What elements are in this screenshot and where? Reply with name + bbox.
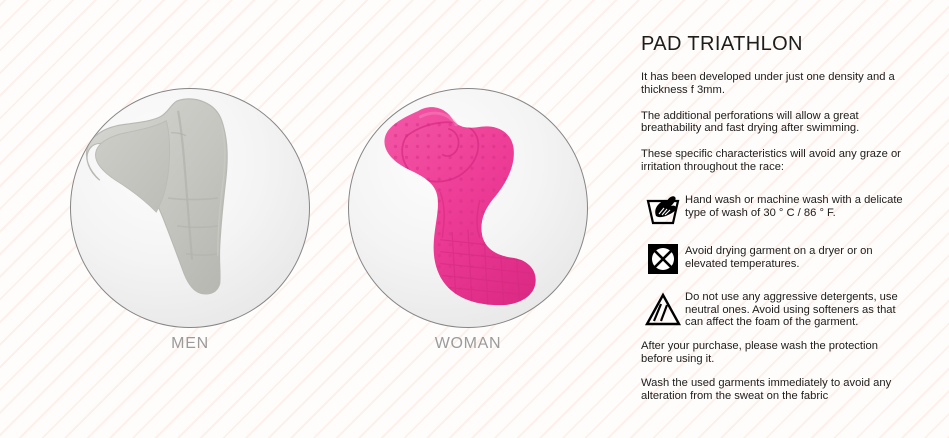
woman-pad-illustration: [349, 89, 587, 327]
care-instruction-list: Hand wash or machine wash with a delicat…: [641, 187, 941, 331]
info-paragraph-3: These specific characteristics will avoi…: [641, 148, 903, 174]
closing-paragraph-2: Wash the used garments immediately to av…: [641, 377, 903, 403]
product-info-panel: PAD TRIATHLON It has been developed unde…: [641, 33, 941, 415]
info-paragraph-1: It has been developed under just one den…: [641, 71, 903, 97]
product-card-men[interactable]: MEN: [70, 88, 310, 328]
care-instruction-item: Do not use any aggressive detergents, us…: [641, 289, 941, 331]
page-title: PAD TRIATHLON: [641, 33, 941, 56]
men-pad-illustration: [71, 89, 309, 327]
care-instruction-text: Hand wash or machine wash with a delicat…: [685, 187, 910, 220]
care-instruction-text: Avoid drying garment on a dryer or on el…: [685, 238, 910, 271]
care-instruction-item: Hand wash or machine wash with a delicat…: [641, 187, 941, 229]
non-chlorine-bleach-icon: [641, 289, 685, 331]
hand-wash-icon: [641, 187, 685, 229]
page-background: MEN: [0, 0, 949, 438]
closing-paragraph-1: After your purchase, please wash the pro…: [641, 340, 903, 366]
product-card-woman[interactable]: WOMAN: [348, 88, 588, 328]
do-not-tumble-dry-icon: [641, 238, 685, 280]
info-paragraph-2: The additional perforations will allow a…: [641, 110, 903, 136]
product-circle-woman: [348, 88, 588, 328]
care-instruction-text: Do not use any aggressive detergents, us…: [685, 289, 910, 329]
care-instruction-item: Avoid drying garment on a dryer or on el…: [641, 238, 941, 280]
product-label-men: MEN: [70, 335, 310, 353]
product-label-woman: WOMAN: [348, 335, 588, 353]
product-circle-men: [70, 88, 310, 328]
